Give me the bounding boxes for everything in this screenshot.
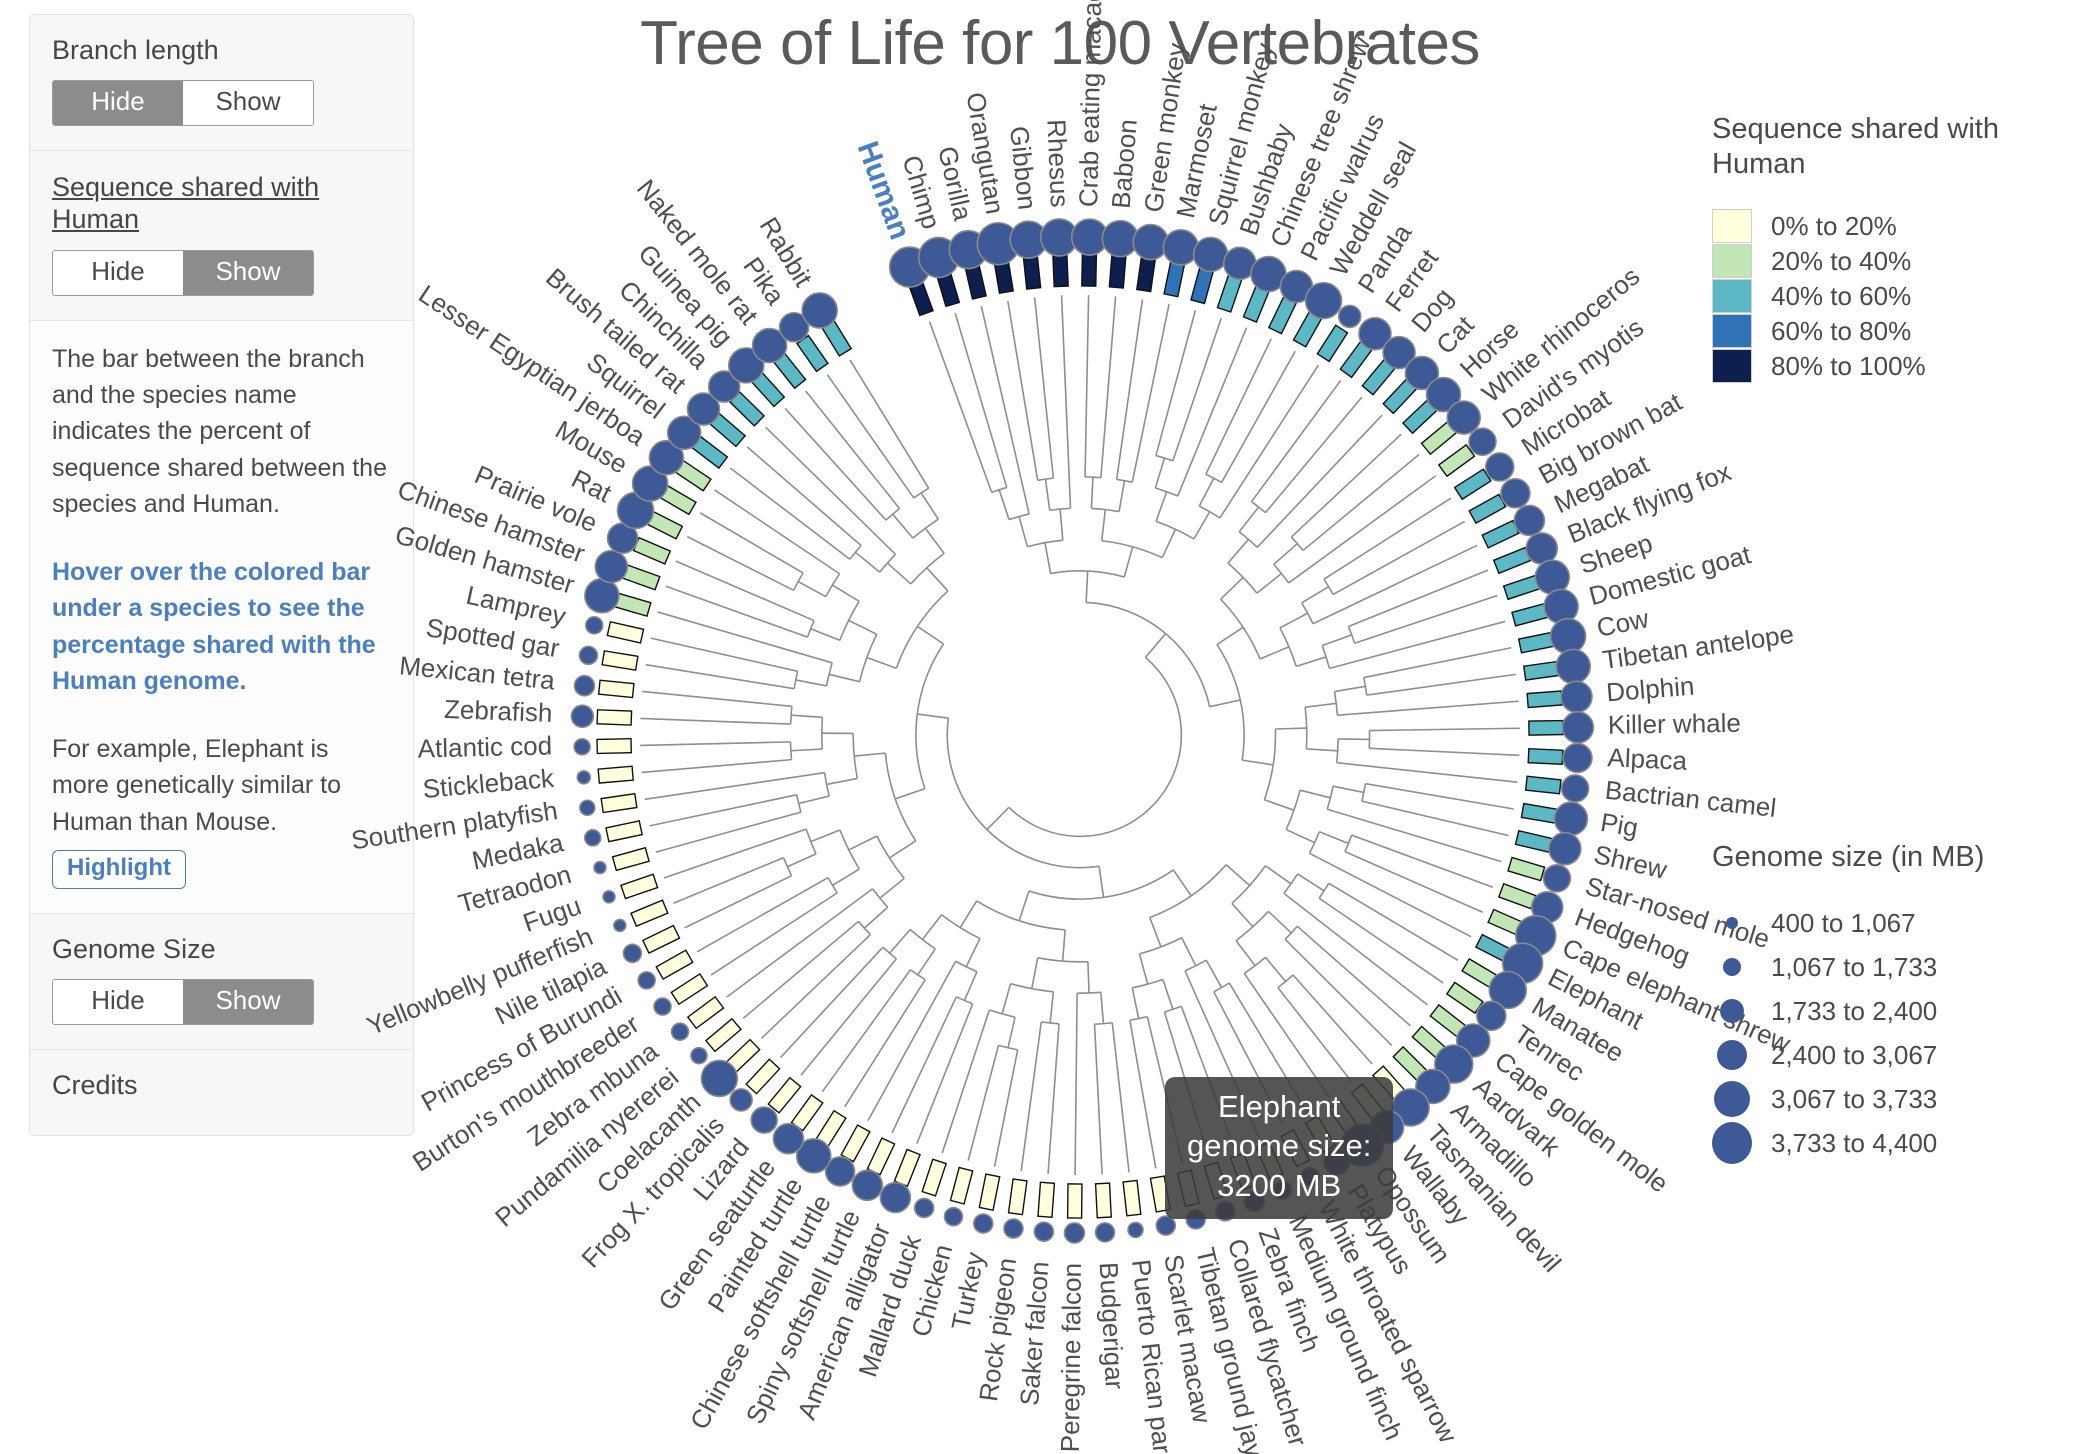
tree-branch — [1019, 517, 1027, 547]
size-legend-label: 3,733 to 4,400 — [1771, 1128, 1937, 1159]
genome-size-dot[interactable]: Microbat genome size: 2000 MB — [1486, 453, 1514, 481]
tree-arc — [1214, 983, 1230, 992]
tree-branch — [1355, 596, 1498, 644]
tree-branch — [649, 795, 796, 826]
genome-size-dot[interactable]: Scarlet macaw genome size: 1100 MB — [1156, 1216, 1175, 1235]
tree-branch — [811, 629, 840, 641]
sequence-share-bar[interactable]: Spotted gar: 6% — [602, 651, 638, 670]
sequence-share-bar[interactable]: Mallard duck: 6% — [922, 1159, 946, 1196]
tree-branch — [1364, 648, 1511, 678]
tree-branch — [685, 876, 792, 928]
genome-size-dot[interactable]: Dolphin genome size: 2300 MB — [1561, 681, 1592, 712]
tree-branch — [895, 789, 925, 799]
genome-size-dot[interactable]: Lizard genome size: 1800 MB — [751, 1107, 777, 1133]
tree-branch — [1280, 613, 1308, 628]
tree-branch — [1302, 587, 1329, 603]
tree-branch — [1362, 801, 1508, 835]
sequence-share-bar[interactable]: David's myotis: 30% — [1439, 445, 1475, 476]
sequence-share-bar[interactable]: Marmoset: 74% — [1164, 261, 1185, 297]
tree-branch — [799, 796, 829, 803]
tree-branch — [1199, 478, 1213, 506]
sequence-share-bar[interactable]: Golden hamster: 25% — [614, 593, 651, 616]
genome-size-dot[interactable]: Atlantic cod genome size: 800 MB — [574, 739, 590, 755]
tree-arc — [1077, 992, 1101, 993]
genome-size-dot[interactable]: Princess of Burundi genome size: 900 MB — [638, 972, 655, 989]
sequence-share-bar[interactable]: Spiny softshell turtle: 8% — [867, 1138, 894, 1175]
size-legend-label: 3,067 to 3,733 — [1771, 1084, 1937, 1115]
tree-branch — [921, 493, 938, 519]
sequence-share-bar[interactable]: Baboon: 88% — [1109, 253, 1126, 288]
tree-arc — [947, 718, 1099, 868]
tree-branch — [1329, 621, 1505, 668]
sequence-share-bar[interactable]: Chicken: 6% — [951, 1167, 973, 1203]
sequence-share-bar[interactable]: Shrew: 42% — [1516, 831, 1552, 852]
genome-size-dots-group[interactable]: Human genome size: 3200 MBChimp genome s… — [571, 219, 1593, 1243]
tree-branch — [1050, 992, 1053, 1023]
tree-branch — [791, 749, 822, 751]
tree-branch — [1139, 954, 1147, 984]
genome-size-dot[interactable]: Zebra mbuna genome size: 900 MB — [671, 1023, 688, 1040]
genome-size-dot[interactable]: Black flying fox genome size: 2300 MB — [1526, 533, 1557, 564]
tree-branch — [642, 760, 792, 773]
tree-branch — [927, 568, 948, 591]
tree-branch — [766, 427, 896, 554]
tree-branch — [1228, 539, 1248, 563]
tree-branch — [893, 514, 913, 538]
tree-branch — [995, 1050, 1018, 1167]
tree-branch — [999, 490, 1009, 520]
sequence-share-bar[interactable]: Atlantic cod: 5% — [597, 739, 631, 754]
genome-size-dot[interactable]: Frog X. tropicalis genome size: 1400 MB — [730, 1089, 752, 1111]
tree-branch — [1091, 477, 1093, 508]
genome-size-dot[interactable]: Green monkey genome size: 2700 MB — [1133, 225, 1168, 260]
genome-size-dot[interactable]: Pundamilia nyererei genome size: 800 MB — [691, 1048, 707, 1064]
sequence-share-bar[interactable]: Pika: 48% — [797, 336, 828, 372]
tree-branch — [642, 691, 792, 706]
sequence-legend-row: 80% to 100% — [1712, 349, 2042, 384]
sequence-share-bar[interactable]: Domestic goat: 45% — [1512, 604, 1548, 626]
tree-branch — [1156, 492, 1167, 522]
size-legend-label: 2,400 to 3,067 — [1771, 1040, 1937, 1071]
sequence-share-bar[interactable]: American alligator: 8% — [894, 1149, 920, 1186]
sequence-share-bars-group[interactable]: Human: 100%Chimp: 98%Gorilla: 96%Orangut… — [597, 252, 1563, 1218]
sequence-legend-swatch — [1712, 209, 1752, 243]
tree-branch — [656, 812, 801, 852]
genome-size-dot[interactable]: Green seaturtle genome size: 2200 MB — [773, 1124, 803, 1154]
sequence-share-bar[interactable]: Crab eating macaque: 89% — [1082, 252, 1097, 286]
tree-branch — [1285, 939, 1392, 1045]
sequence-share-bar[interactable]: Zebra mbuna: 4% — [688, 997, 724, 1028]
tree-branch — [1278, 988, 1351, 1082]
size-legend-row: 1,067 to 1,733 — [1712, 945, 2042, 989]
tree-branch — [1335, 686, 1366, 691]
genome-size-dot[interactable]: Alpaca genome size: 2100 MB — [1563, 743, 1592, 772]
tree-branch — [1239, 507, 1258, 532]
sequence-share-bar[interactable]: Lizard: 8% — [768, 1078, 800, 1113]
tree-branch — [1257, 415, 1382, 547]
sequence-legend-label: 0% to 20% — [1771, 211, 1897, 242]
sequence-legend-label: 40% to 60% — [1771, 281, 1911, 312]
sequence-share-bar[interactable]: Prairie vole: 28% — [634, 538, 671, 564]
tree-branch — [1132, 988, 1138, 1019]
genome-size-dot[interactable]: Domestic goat genome size: 2600 MB — [1544, 589, 1578, 623]
size-legend-label: 1,067 to 1,733 — [1771, 952, 1937, 983]
species-label: Peregrine falcon — [1055, 1263, 1087, 1453]
tree-branch — [1173, 870, 1191, 896]
tree-branch — [1063, 930, 1065, 961]
tree-arc — [808, 621, 815, 638]
sequence-share-bar[interactable]: Killer whale: 44% — [1529, 721, 1563, 736]
tree-branch — [1119, 481, 1124, 512]
tree-branch — [849, 620, 877, 634]
sequence-share-bar[interactable]: Southern platyfish: 4% — [601, 794, 637, 813]
tree-branch — [781, 947, 883, 1057]
sequence-share-bar[interactable]: Fugu: 4% — [621, 874, 658, 898]
genome-size-dot[interactable]: Burton's mouthbreeder genome size: 900 M… — [654, 998, 671, 1015]
tree-branch — [1297, 926, 1410, 1025]
tree-branch — [880, 878, 904, 898]
genome-size-dot[interactable]: Weddell seal genome size: 2800 MB — [1306, 283, 1342, 319]
sequence-share-bar[interactable]: Dolphin: 45% — [1527, 691, 1562, 708]
species-label: Zebrafish — [444, 694, 553, 728]
sequence-share-bar[interactable]: Peregrine falcon: 6% — [1068, 1184, 1082, 1218]
genome-size-dot[interactable]: Panda genome size: 1400 MB — [1339, 305, 1361, 327]
size-legend-dot — [1726, 917, 1738, 929]
tree-branch — [889, 841, 915, 858]
genome-size-dot[interactable]: American alligator genome size: 2200 MB — [880, 1183, 910, 1213]
sequence-legend-swatch — [1712, 314, 1752, 348]
genome-size-dot[interactable]: Spiny softshell turtle genome size: 2200… — [852, 1170, 882, 1200]
genome-size-dot[interactable]: Chinese hamster genome size: 2400 MB — [595, 551, 627, 583]
genome-size-dot[interactable]: Zebrafish genome size: 1400 MB — [571, 705, 593, 727]
tree-branch — [1265, 866, 1291, 884]
tree-arc — [1274, 564, 1289, 583]
tree-branch — [855, 552, 879, 572]
tree-branch — [1260, 647, 1289, 659]
genome-size-dot[interactable]: Big brown bat genome size: 2100 MB — [1501, 479, 1530, 508]
tree-branch — [1008, 301, 1038, 480]
tree-branch — [1032, 958, 1038, 989]
genome-size-dot[interactable]: Cow genome size: 2700 MB — [1551, 619, 1586, 654]
size-legend-dot-cell — [1712, 1033, 1752, 1077]
sequence-share-bar[interactable]: Bushbaby: 55% — [1217, 275, 1241, 312]
tree-branch — [1124, 547, 1132, 577]
tree-arc — [873, 889, 888, 907]
genome-size-dot[interactable]: Tetraodon genome size: 400 MB — [594, 862, 606, 874]
sequence-share-bar[interactable]: Zebrafish: 6% — [597, 710, 632, 725]
size-legend-dot-cell — [1712, 901, 1752, 945]
genome-size-dot[interactable]: Killer whale genome size: 2300 MB — [1562, 712, 1593, 743]
tree-branch — [887, 563, 910, 584]
tree-branch — [666, 586, 808, 637]
tree-arc — [1085, 477, 1101, 478]
species-label: Dolphin — [1605, 671, 1695, 708]
tree-branch — [730, 468, 850, 559]
genome-size-dot[interactable]: Star-nosed mole genome size: 1900 MB — [1543, 865, 1570, 892]
tree-branch — [1008, 1017, 1015, 1048]
tree-branch — [1210, 700, 1241, 707]
genome-size-dot[interactable]: Puerto Rican parrot genome size: 700 MB — [1128, 1222, 1143, 1237]
tree-branch — [1337, 763, 1518, 783]
tree-arc — [822, 717, 823, 749]
genome-size-dot[interactable]: Pig genome size: 2500 MB — [1554, 802, 1587, 835]
tree-branch — [1021, 1022, 1041, 1171]
tree-branch — [1045, 543, 1051, 574]
tree-branch — [1060, 509, 1063, 540]
tree-branch — [640, 718, 790, 724]
genome-size-dot[interactable]: White rhinoceros genome size: 2500 MB — [1447, 401, 1480, 434]
tree-branch — [1220, 365, 1318, 518]
sequence-share-bar[interactable]: Cow: 46% — [1519, 632, 1555, 652]
genome-size-dot[interactable]: Budgerigar genome size: 1100 MB — [1096, 1223, 1115, 1242]
size-legend-row: 1,733 to 2,400 — [1712, 989, 2042, 1033]
size-legend-row: 3,067 to 3,733 — [1712, 1077, 2042, 1121]
tree-branch — [1369, 748, 1519, 755]
sequence-share-bar[interactable]: Yellowbelly pufferfish: 4% — [631, 900, 668, 926]
genome-size-dot[interactable]: Rabbit genome size: 2700 MB — [802, 293, 837, 328]
tree-branch — [1265, 397, 1361, 513]
tree-branch — [917, 714, 948, 718]
sequence-share-bar[interactable]: Nile tilapia: 4% — [643, 926, 680, 953]
tree-branch — [1182, 938, 1196, 966]
tree-branch — [806, 391, 900, 509]
sequence-share-bar[interactable]: Black flying fox: 46% — [1494, 548, 1531, 574]
tree-branch — [925, 528, 944, 553]
sequence-legend-swatch — [1712, 279, 1752, 313]
sequence-share-bar[interactable]: Lamprey: 4% — [607, 622, 643, 643]
genome-size-dot[interactable]: Fugu genome size: 400 MB — [603, 891, 615, 903]
tree-arc — [1206, 474, 1222, 482]
genome-size-dot[interactable]: Megabat genome size: 2200 MB — [1514, 505, 1544, 535]
tree-branch — [664, 829, 806, 878]
size-legend-row: 3,733 to 4,400 — [1712, 1121, 2042, 1165]
tree-branch — [673, 858, 783, 904]
sequence-share-bar[interactable]: Star-nosed mole: 38% — [1508, 857, 1545, 880]
tree-branch — [1322, 635, 1351, 646]
tree-arc — [791, 742, 792, 760]
tree-arc — [1302, 603, 1313, 624]
genome-size-dot[interactable]: Tibetan antelope genome size: 2600 MB — [1556, 649, 1590, 683]
tree-arc — [1319, 883, 1329, 898]
tree-branch — [651, 638, 798, 671]
sequence-share-bar[interactable]: Tenrec: 28% — [1447, 982, 1483, 1013]
genome-size-dot[interactable]: Shrew genome size: 2400 MB — [1549, 833, 1581, 865]
tree-arc — [1345, 835, 1352, 851]
tree-branch — [1275, 728, 1306, 729]
genome-size-dot[interactable]: Mallard duck genome size: 1100 MB — [915, 1198, 934, 1217]
sequence-share-bar[interactable]: Green monkey: 87% — [1137, 256, 1156, 292]
tree-arc — [806, 829, 816, 854]
tree-branch — [868, 961, 956, 1120]
tree-branch — [1291, 434, 1401, 537]
sequence-share-bar[interactable]: Frog X. tropicalis: 6% — [746, 1059, 779, 1093]
sequence-legend-label: 60% to 80% — [1771, 316, 1911, 347]
sequence-legend-swatch — [1712, 349, 1752, 383]
genome-size-dot[interactable]: Nile tilapia genome size: 1000 MB — [623, 944, 641, 962]
species-label: Alpaca — [1607, 742, 1688, 776]
tree-arc — [1337, 739, 1338, 763]
tree-branch — [811, 830, 840, 842]
size-legend-dot-cell — [1712, 1077, 1752, 1121]
tree-branch — [787, 854, 816, 867]
genome-size-dot[interactable]: Coelacanth genome size: 2800 MB — [701, 1060, 737, 1096]
genome-size-dot[interactable]: Peregrine falcon genome size: 1200 MB — [1064, 1223, 1084, 1243]
tree-branch — [1242, 760, 1273, 765]
tree-arc — [826, 574, 840, 597]
tree-branch — [827, 778, 858, 784]
tree-branch — [1306, 749, 1337, 751]
size-legend-row: 2,400 to 3,067 — [1712, 1033, 2042, 1077]
sequence-share-bar[interactable]: Saker falcon: 6% — [1038, 1182, 1054, 1217]
tree-branch — [1206, 960, 1221, 987]
sequence-share-bar[interactable]: Microbat: 42% — [1455, 469, 1491, 499]
tree-branch — [1048, 1024, 1059, 1174]
sequence-share-bar[interactable]: Squirrel monkey: 68% — [1191, 267, 1213, 303]
genome-size-dot[interactable]: Rock pigeon genome size: 1100 MB — [1004, 1219, 1023, 1238]
genome-size-dot[interactable]: Mexican tetra genome size: 1200 MB — [574, 676, 594, 696]
tree-branch — [942, 1010, 989, 1153]
sequence-share-bar[interactable]: Princess of Burundi: 4% — [656, 950, 692, 979]
sequence-share-bar[interactable]: Stickleback: 5% — [598, 766, 633, 783]
size-legend-dot — [1717, 1040, 1747, 1070]
tree-arc — [1199, 506, 1220, 518]
genome-size-dot[interactable]: Turkey genome size: 1100 MB — [974, 1214, 993, 1233]
sequence-share-bar[interactable]: Medaka: 4% — [606, 821, 642, 842]
tree-branch — [833, 869, 860, 885]
tree-branch — [1095, 1024, 1103, 1174]
tree-branch — [687, 537, 793, 591]
sequence-share-bar[interactable]: Alpaca: 43% — [1528, 749, 1563, 765]
tree-arc — [1309, 832, 1319, 854]
species-label: Crab eating macaque — [1073, 0, 1108, 207]
genome-size-dot[interactable]: Yellowbelly pufferfish genome size: 400 … — [614, 919, 626, 931]
sequence-legend-title: Sequence shared with Human — [1712, 112, 2042, 183]
sequence-share-bar[interactable]: Gibbon: 92% — [1023, 254, 1040, 289]
tree-branch — [890, 929, 911, 953]
genome-size-dot[interactable]: Lamprey genome size: 900 MB — [586, 617, 603, 634]
genome-size-dot[interactable]: Stickleback genome size: 500 MB — [577, 771, 590, 784]
genome-size-dot[interactable]: Chicken genome size: 1000 MB — [944, 1208, 962, 1226]
genome-size-dot[interactable]: Bactrian camel genome size: 1900 MB — [1562, 775, 1589, 802]
sequence-share-bar[interactable]: Chinese hamster: 26% — [623, 565, 660, 590]
sequence-share-bar[interactable]: Tibetan antelope: 44% — [1524, 662, 1560, 681]
size-legend-dot-cell — [1712, 945, 1752, 989]
tree-branch — [1150, 918, 1161, 947]
tree-branch — [1002, 984, 1010, 1014]
tree-branch — [1102, 510, 1105, 541]
sequence-share-bar[interactable]: Panda: 50% — [1317, 325, 1347, 361]
tree-branch — [700, 513, 803, 573]
sequence-share-bar[interactable]: Pundamilia nyererei: 4% — [706, 1019, 741, 1052]
tree-branch — [1296, 657, 1326, 666]
species-label: Pig — [1598, 807, 1640, 843]
tree-branch — [849, 836, 877, 850]
tree-branch — [1303, 455, 1419, 551]
tree-arc — [1244, 957, 1265, 973]
genome-size-dot[interactable]: Medaka genome size: 800 MB — [585, 830, 601, 846]
tree-branch — [1333, 786, 1364, 792]
sequence-share-bar[interactable]: Pig: 43% — [1521, 804, 1557, 824]
tree-branch — [791, 715, 822, 717]
species-label: Rhesus — [1041, 119, 1075, 208]
sequence-share-bar[interactable]: Burton's mouthbreeder: 4% — [671, 974, 707, 1004]
tree-branch — [1236, 941, 1255, 966]
genome-size-dot[interactable]: David's myotis genome size: 1900 MB — [1469, 428, 1496, 455]
tree-branch — [960, 901, 977, 928]
tree-branch — [1163, 980, 1173, 1010]
tree-branch — [867, 657, 896, 668]
genome-size-dot[interactable]: Squirrel monkey genome size: 2600 MB — [1194, 237, 1228, 271]
species-label: Baboon — [1106, 118, 1143, 210]
tree-branch — [1370, 728, 1520, 730]
tree-branch — [640, 742, 790, 746]
sequence-share-bar[interactable]: Chinese softshell turtle: 8% — [841, 1125, 870, 1162]
genome-size-dot[interactable]: Southern platyfish genome size: 700 MB — [580, 800, 595, 815]
genome-size-dot[interactable]: Marmoset genome size: 2700 MB — [1163, 230, 1198, 265]
genome-size-dot[interactable]: Golden hamster genome size: 2600 MB — [585, 579, 619, 613]
sequence-share-bar[interactable]: Hedgehog: 30% — [1499, 884, 1536, 909]
sequence-share-bar[interactable]: Puerto Rican parrot: 6% — [1123, 1180, 1141, 1215]
tree-branch — [646, 665, 795, 689]
sequence-legend-label: 80% to 100% — [1771, 351, 1926, 382]
tree-arc — [883, 947, 896, 959]
tree-branch — [1298, 874, 1324, 891]
tree-branch — [966, 939, 980, 967]
sequence-share-bar[interactable]: Big brown bat: 44% — [1469, 494, 1506, 523]
tree-arc — [1185, 960, 1206, 971]
size-legend-title: Genome size (in MB) — [1712, 840, 2042, 875]
tree-arc — [1095, 1023, 1113, 1024]
tree-branch — [1289, 476, 1436, 583]
sequence-share-bar[interactable]: Megabat: 46% — [1482, 521, 1519, 548]
tree-branch — [1112, 1023, 1129, 1173]
tree-branch — [761, 935, 870, 1039]
sequence-share-bar[interactable]: Budgerigar: 6% — [1096, 1183, 1112, 1218]
tree-branch — [1300, 790, 1330, 798]
tree-branch — [1062, 295, 1071, 508]
sequence-legend-row: 20% to 40% — [1712, 244, 2042, 279]
tree-branch — [1319, 832, 1348, 844]
sequence-legend-swatch — [1712, 244, 1752, 278]
tree-branch — [1365, 784, 1513, 809]
genome-size-dot[interactable]: Spotted gar genome size: 1000 MB — [579, 646, 597, 664]
sequence-share-bar[interactable]: Tetraodon: 4% — [613, 848, 650, 871]
size-legend-dot — [1720, 999, 1744, 1023]
tree-branches-group — [640, 295, 1520, 1175]
genome-size-dot[interactable]: Saker falcon genome size: 1100 MB — [1034, 1222, 1053, 1241]
size-legend-dot — [1723, 958, 1741, 976]
tree-arc — [910, 929, 935, 948]
tree-branch — [829, 674, 859, 681]
tree-branch — [1145, 634, 1165, 658]
tree-branch — [798, 582, 826, 597]
sequence-share-bar[interactable]: Rock pigeon: 6% — [1009, 1179, 1027, 1215]
sequence-share-bar[interactable]: Bactrian camel: 42% — [1526, 776, 1561, 794]
tree-branch — [747, 447, 861, 545]
tree-branch — [676, 561, 814, 620]
tree-branch — [1337, 701, 1518, 715]
sequence-share-bar[interactable]: Rhesus: 90% — [1053, 252, 1068, 287]
tree-branch — [743, 921, 858, 1018]
tree-branch — [917, 1004, 973, 1144]
sequence-share-bar[interactable]: Mexican tetra: 6% — [599, 680, 634, 697]
tree-branch — [1173, 318, 1221, 460]
tree-arc — [910, 970, 925, 980]
size-legend-row: 400 to 1,067 — [1712, 901, 2042, 945]
tree-branch — [1130, 1020, 1156, 1168]
tree-branch — [1348, 570, 1487, 626]
sequence-share-bar[interactable]: Turkey: 6% — [979, 1174, 999, 1210]
